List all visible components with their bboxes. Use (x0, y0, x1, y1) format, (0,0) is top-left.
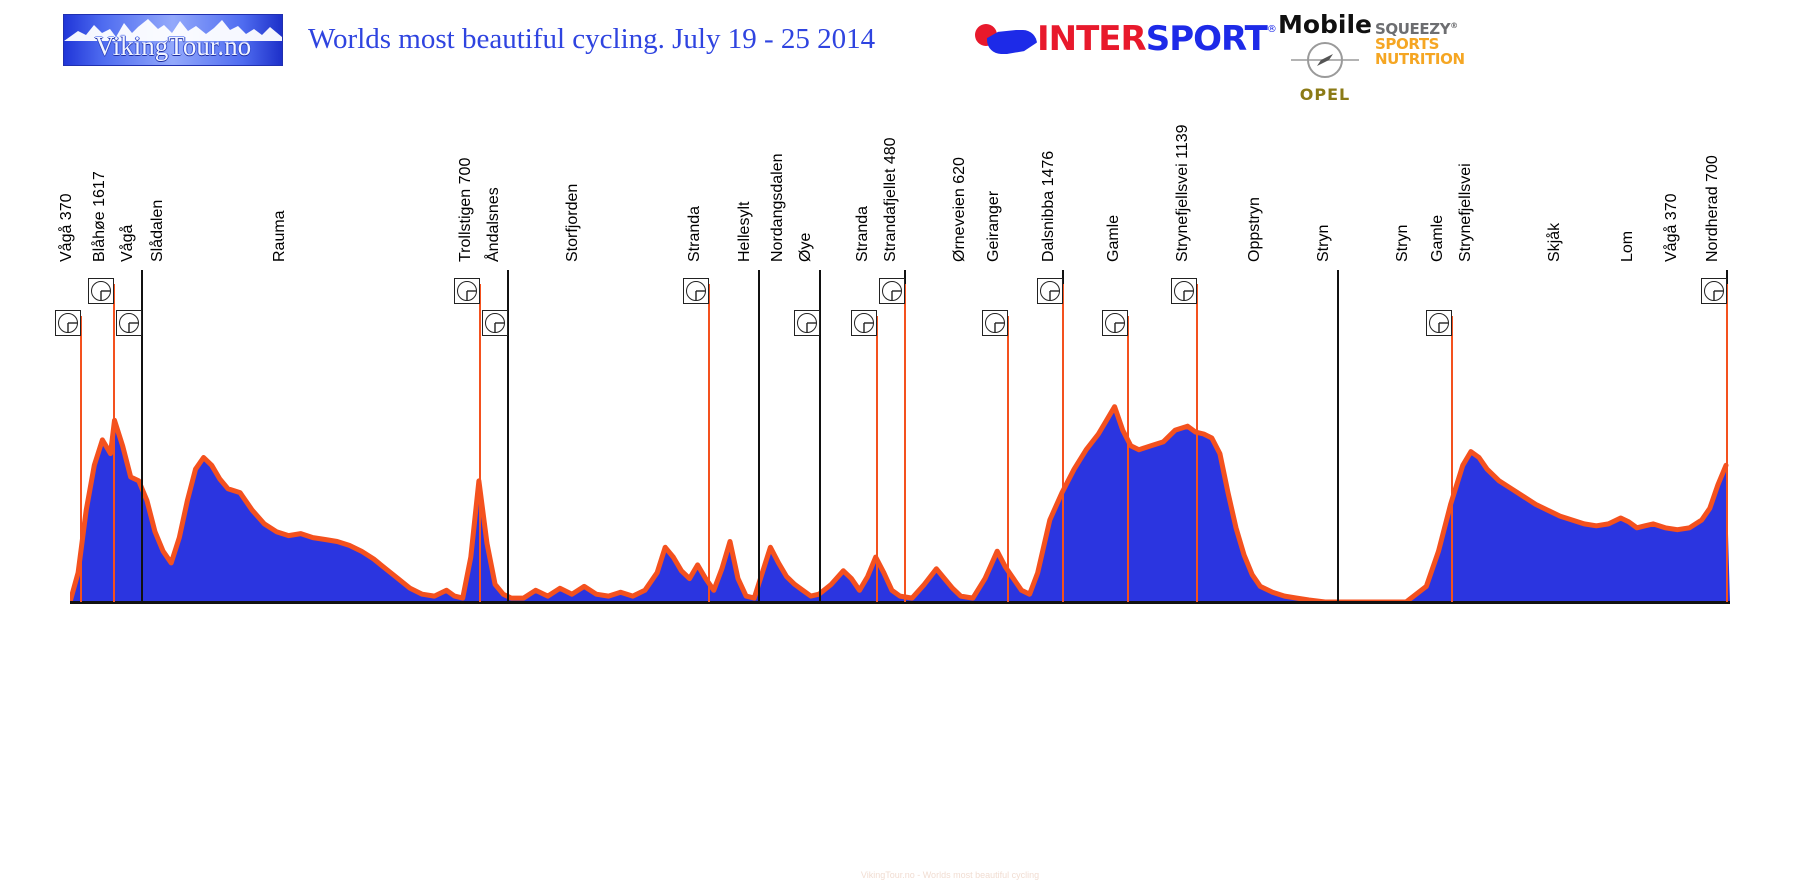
clock-icon[interactable] (454, 278, 480, 304)
day-divider-line (758, 270, 760, 602)
waypoint-marker-line (80, 316, 82, 602)
waypoint-label: Strandafjellet 480 (882, 137, 899, 262)
elevation-profile-chart: VikingTour.no - Worlds most beautiful cy… (0, 270, 1800, 620)
clock-icon[interactable] (55, 310, 81, 336)
clock-icon[interactable] (1037, 278, 1063, 304)
waypoint-label: Stryn (1394, 225, 1411, 262)
clock-icon[interactable] (683, 278, 709, 304)
waypoint-marker-line (904, 284, 906, 602)
waypoint-marker-line (876, 316, 878, 602)
waypoint-label: Geiranger (985, 191, 1002, 262)
waypoint-label: Trollstigen 700 (457, 158, 474, 262)
waypoint-label: Storfjorden (564, 184, 581, 262)
waypoint-label: Oppstryn (1246, 197, 1263, 262)
waypoint-marker-line (1062, 284, 1064, 602)
waypoint-marker-line (708, 284, 710, 602)
clock-icon[interactable] (1426, 310, 1452, 336)
waypoint-label: Skjåk (1546, 223, 1563, 262)
clock-icon[interactable] (482, 310, 508, 336)
waypoint-label: Blåhøe 1617 (91, 171, 108, 262)
waypoint-marker-line (1007, 316, 1009, 602)
waypoint-marker-line (1127, 316, 1129, 602)
waypoint-label: Stryn (1315, 225, 1332, 262)
waypoint-label: Nordherad 700 (1704, 155, 1721, 262)
waypoint-label: Dalsnibba 1476 (1040, 151, 1057, 262)
profile-plot-area (70, 270, 1730, 602)
waypoint-marker-line (1196, 284, 1198, 602)
waypoint-label: Gamle (1429, 215, 1446, 262)
waypoint-label: Strynefjellsvei 1139 (1174, 124, 1191, 262)
watermark-text: VikingTour.no - Worlds most beautiful cy… (740, 870, 1160, 880)
waypoint-label: Øye (797, 233, 814, 262)
day-divider-line (1337, 270, 1339, 602)
baseline-axis (70, 601, 1730, 604)
waypoint-label: Vågå 370 (1663, 193, 1680, 262)
clock-icon[interactable] (794, 310, 820, 336)
waypoint-label: Åndalsnes (485, 187, 502, 262)
waypoint-label: Rauma (271, 210, 288, 262)
elevation-fill (70, 407, 1730, 602)
clock-icon[interactable] (1701, 278, 1727, 304)
waypoint-label: Stranda (686, 206, 703, 262)
waypoint-marker-line (113, 284, 115, 602)
clock-icon[interactable] (982, 310, 1008, 336)
clock-icon[interactable] (851, 310, 877, 336)
waypoint-label: Vågå 370 (58, 193, 75, 262)
elevation-area-series (70, 270, 1730, 602)
waypoint-marker-line (1451, 316, 1453, 602)
waypoint-label: Ørneveien 620 (951, 157, 968, 262)
waypoint-label: Slådalen (149, 200, 166, 262)
waypoint-label: Vågå (119, 225, 136, 262)
waypoint-label: Gamle (1105, 215, 1122, 262)
clock-icon[interactable] (88, 278, 114, 304)
waypoint-label: Stranda (854, 206, 871, 262)
waypoint-label: Hellesylt (736, 202, 753, 262)
waypoint-label: Nordangsdalen (769, 153, 786, 262)
waypoint-label-layer: Vågå 370Blåhøe 1617VågåSlådalenRaumaTrol… (0, 0, 1800, 270)
waypoint-label: Strynefjellsvei (1457, 163, 1474, 262)
waypoint-label: Lom (1619, 231, 1636, 262)
waypoint-marker-line (479, 284, 481, 602)
clock-icon[interactable] (1171, 278, 1197, 304)
clock-icon[interactable] (116, 310, 142, 336)
waypoint-marker-line (1726, 284, 1728, 602)
clock-icon[interactable] (1102, 310, 1128, 336)
clock-icon[interactable] (879, 278, 905, 304)
